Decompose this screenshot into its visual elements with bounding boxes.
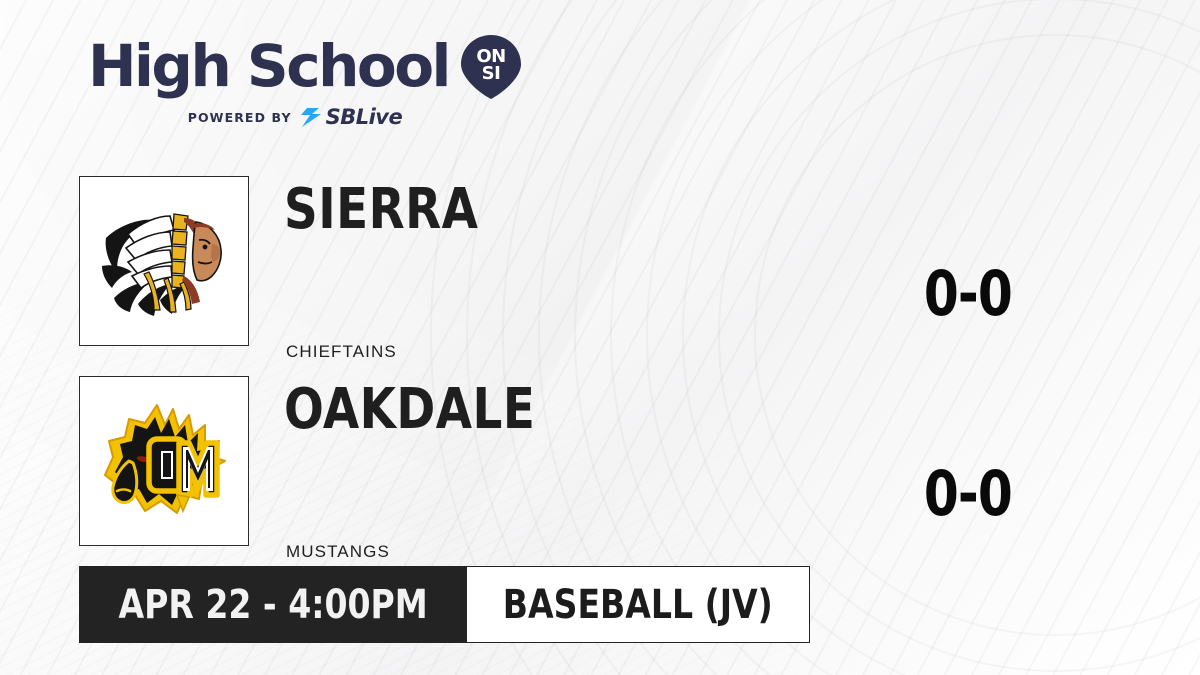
sblive-wordmark: SBLive xyxy=(326,107,403,128)
on-si-pin-icon: ON SI xyxy=(458,33,524,99)
team-row-home[interactable]: SIERRA CHIEFTAINS xyxy=(79,176,493,346)
team-record-home: 0-0 xyxy=(924,263,1012,325)
team-name: SIERRA xyxy=(284,182,478,238)
team-text-block: OAKDALE MUSTANGS xyxy=(284,376,554,438)
sblive-bolt-icon xyxy=(300,107,323,128)
game-datetime-box: APR 22 - 4:00PM xyxy=(79,566,467,643)
game-sport-box: BASEBALL (JV) xyxy=(467,566,810,643)
pin-text-si: SI xyxy=(482,63,501,84)
team-mascot: CHIEFTAINS xyxy=(286,342,397,362)
chieftain-headdress-logo xyxy=(98,200,230,322)
brand-wordmark: High School xyxy=(88,37,449,95)
powered-by-row: POWERED BY SBLive xyxy=(88,107,524,128)
game-datetime: APR 22 - 4:00PM xyxy=(118,582,427,628)
site-header: High School ON SI POWERED BY SBLive xyxy=(88,33,524,128)
game-info-bar: APR 22 - 4:00PM BASEBALL (JV) xyxy=(79,566,810,643)
team-row-away[interactable]: OAKDALE MUSTANGS xyxy=(79,376,554,546)
team-name: OAKDALE xyxy=(284,382,535,438)
powered-by-label: POWERED BY xyxy=(188,110,292,125)
team-record-away: 0-0 xyxy=(924,463,1012,525)
brand-logo[interactable]: High School ON SI xyxy=(88,33,524,99)
sblive-logo[interactable]: SBLive xyxy=(300,107,403,128)
team-logo-box xyxy=(79,376,249,546)
team-mascot: MUSTANGS xyxy=(286,542,390,562)
team-text-block: SIERRA CHIEFTAINS xyxy=(284,176,493,238)
game-sport: BASEBALL (JV) xyxy=(503,582,773,628)
mustang-head-om-logo xyxy=(99,399,229,523)
team-logo-box xyxy=(79,176,249,346)
